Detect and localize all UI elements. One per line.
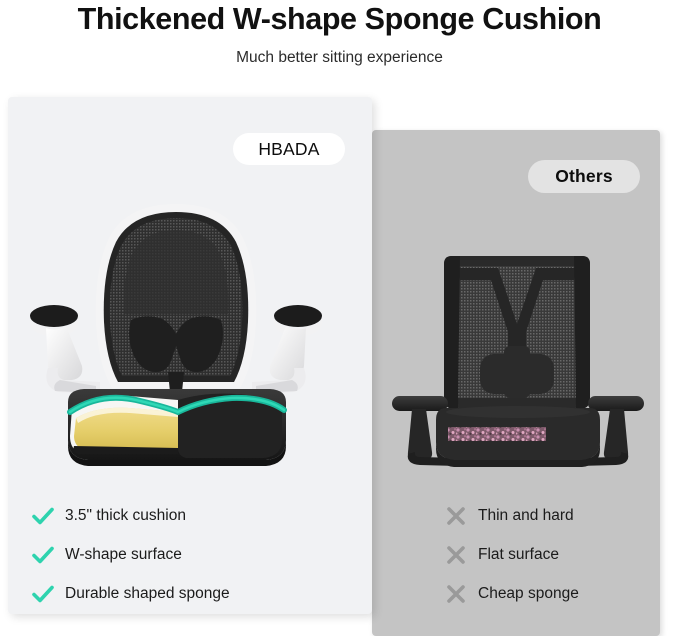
feature-list-hbada: 3.5" thick cushion W-shape surface Durab…	[30, 496, 330, 613]
page-subtitle: Much better sitting experience	[0, 37, 679, 68]
page-title: Thickened W-shape Sponge Cushion	[0, 0, 679, 37]
feature-label: Flat surface	[478, 545, 559, 565]
feature-row: W-shape surface	[30, 535, 330, 574]
cross-icon	[443, 581, 469, 607]
check-icon	[30, 503, 56, 529]
feature-row: Thin and hard	[443, 496, 673, 535]
feature-list-others: Thin and hard Flat surface Cheap sponge	[443, 496, 673, 613]
feature-label: Cheap sponge	[478, 584, 579, 604]
feature-row: Durable shaped sponge	[30, 574, 330, 613]
check-icon	[30, 581, 56, 607]
cross-icon	[443, 503, 469, 529]
feature-row: 3.5" thick cushion	[30, 496, 330, 535]
feature-row: Cheap sponge	[443, 574, 673, 613]
product-image-hbada	[26, 196, 326, 476]
check-icon	[30, 542, 56, 568]
feature-label: 3.5" thick cushion	[65, 506, 186, 526]
product-image-others	[386, 246, 650, 482]
cross-icon	[443, 542, 469, 568]
header: Thickened W-shape Sponge Cushion Much be…	[0, 0, 679, 68]
feature-label: Thin and hard	[478, 506, 574, 526]
badge-others: Others	[528, 160, 640, 193]
feature-row: Flat surface	[443, 535, 673, 574]
feature-label: Durable shaped sponge	[65, 584, 230, 604]
badge-hbada: HBADA	[233, 133, 345, 165]
feature-label: W-shape surface	[65, 545, 182, 565]
